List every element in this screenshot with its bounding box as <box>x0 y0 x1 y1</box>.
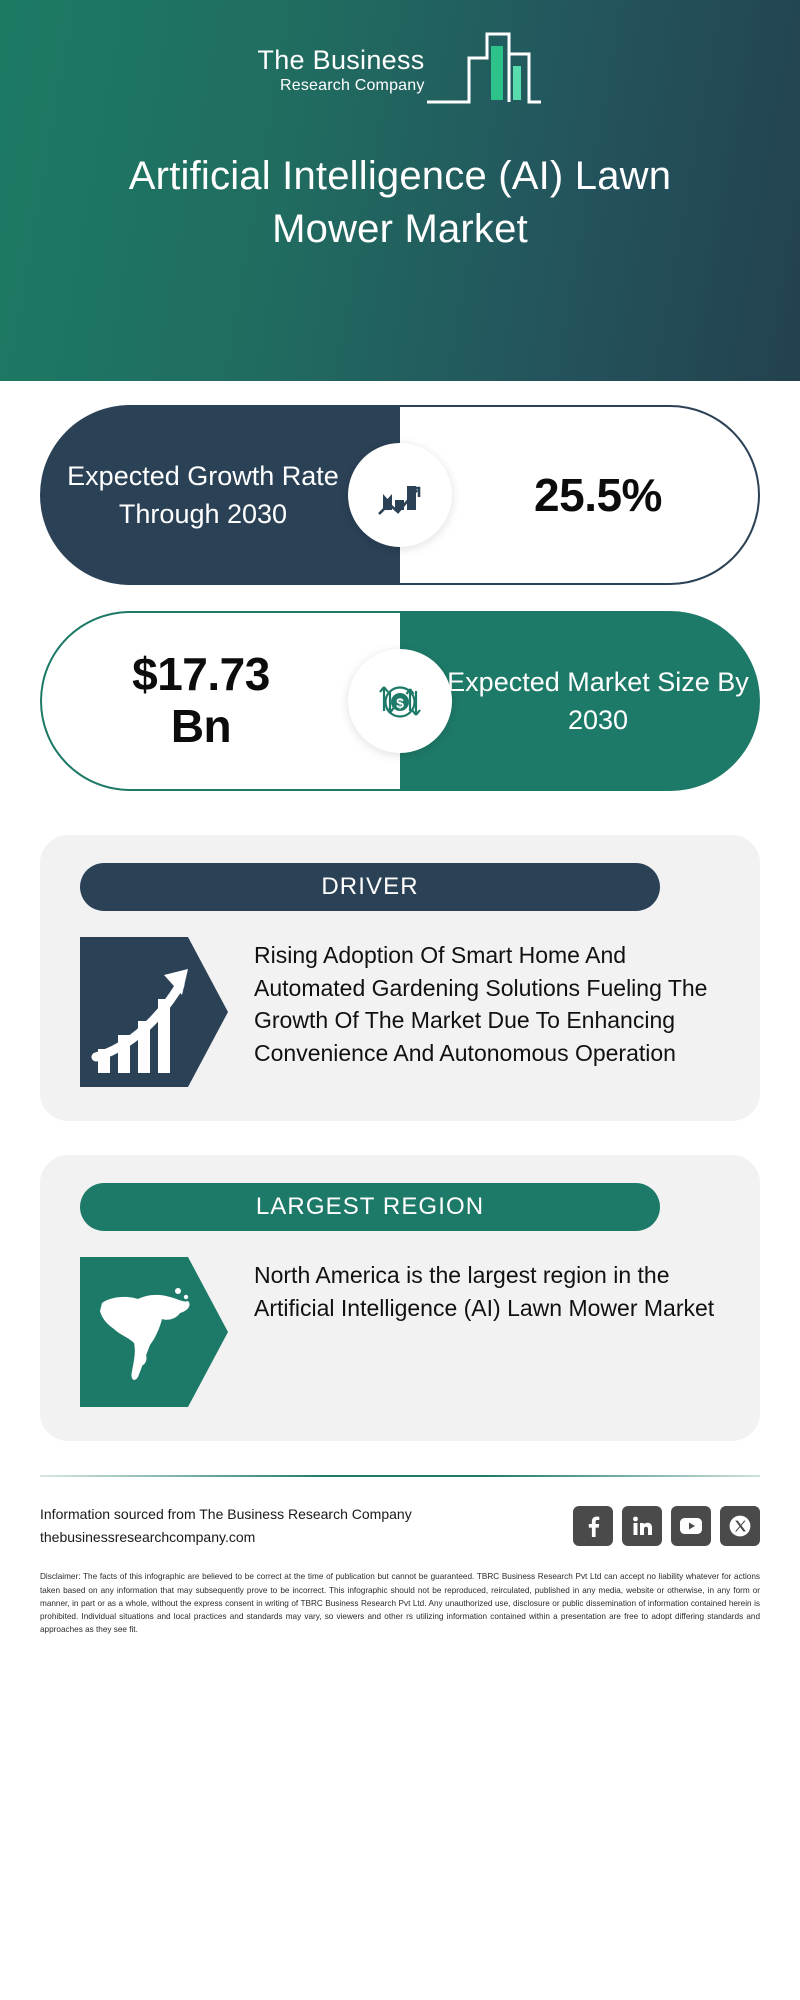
svg-text:$: $ <box>396 695 404 711</box>
page-title: Artificial Intelligence (AI) Lawn Mower … <box>70 150 730 256</box>
stat-card-growth-rate-label: Expected Growth Rate Through 2030 <box>40 457 366 534</box>
bar-chart-logo-icon <box>425 28 543 110</box>
largest-region-panel-body: North America is the largest region in t… <box>70 1257 730 1407</box>
social-links <box>573 1506 760 1546</box>
stat-card-growth-rate: Expected Growth Rate Through 2030 25.5% <box>40 405 760 585</box>
stat-card-growth-rate-value-panel: 25.5% <box>400 405 760 585</box>
stats-section: Expected Growth Rate Through 2030 25.5% … <box>0 405 800 791</box>
driver-badge: DRIVER <box>80 863 660 911</box>
stat-card-growth-rate-label-panel: Expected Growth Rate Through 2030 <box>40 405 400 585</box>
largest-region-text: North America is the largest region in t… <box>254 1257 730 1407</box>
largest-region-badge: LARGEST REGION <box>80 1183 660 1231</box>
driver-text: Rising Adoption Of Smart Home And Automa… <box>254 937 730 1087</box>
footer-credit: Information sourced from The Business Re… <box>40 1503 412 1548</box>
footer-row: Information sourced from The Business Re… <box>40 1503 760 1548</box>
x-twitter-icon[interactable] <box>720 1506 760 1546</box>
stat-card-market-size-value: $17.73 Bn <box>132 649 270 752</box>
north-america-map-pentagon-icon <box>80 1257 228 1407</box>
dollar-circulation-icon: $ <box>370 671 430 731</box>
linkedin-icon[interactable] <box>622 1506 662 1546</box>
driver-badge-label: DRIVER <box>321 873 418 901</box>
footer-credit-line2[interactable]: thebusinessresearchcompany.com <box>40 1526 412 1549</box>
brand-logo-text: The Business Research Company <box>257 47 424 110</box>
largest-region-panel: LARGEST REGION North America is the larg… <box>40 1155 760 1441</box>
youtube-icon[interactable] <box>671 1506 711 1546</box>
header-banner: The Business Research Company Artificial… <box>0 0 800 381</box>
brand-logo-line1: The Business <box>257 47 424 74</box>
stat-card-market-size-value-line1: $17.73 <box>132 648 270 700</box>
driver-panel: DRIVER Rising Adoption Of Smart Home And… <box>40 835 760 1121</box>
growth-chart-arrow-pentagon-icon <box>80 937 228 1087</box>
footer-credit-line1: Information sourced from The Business Re… <box>40 1503 412 1526</box>
growth-bar-chart-arrow-icon <box>371 466 429 524</box>
disclaimer-text: Disclaimer: The facts of this infographi… <box>40 1570 760 1636</box>
stat-card-market-size-label-panel: Expected Market Size By 2030 <box>400 611 760 791</box>
footer-divider <box>40 1475 760 1477</box>
driver-panel-body: Rising Adoption Of Smart Home And Automa… <box>70 937 730 1087</box>
infographic-page: The Business Research Company Artificial… <box>0 0 800 2000</box>
stat-card-growth-rate-value: 25.5% <box>534 468 662 522</box>
footer: Information sourced from The Business Re… <box>40 1441 760 1637</box>
largest-region-badge-label: LARGEST REGION <box>256 1193 484 1221</box>
brand-logo-line2: Research Company <box>280 74 425 98</box>
stat-card-market-size-value-line2: Bn <box>171 700 231 752</box>
stat-card-market-size: $17.73 Bn $ Expected Market Size By 2030 <box>40 611 760 791</box>
stat-card-growth-rate-badge <box>348 443 452 547</box>
stat-card-market-size-value-panel: $17.73 Bn <box>40 611 400 791</box>
brand-logo: The Business Research Company <box>257 28 542 110</box>
stat-card-market-size-badge: $ <box>348 649 452 753</box>
facebook-icon[interactable] <box>573 1506 613 1546</box>
stat-card-market-size-label: Expected Market Size By 2030 <box>436 663 760 740</box>
